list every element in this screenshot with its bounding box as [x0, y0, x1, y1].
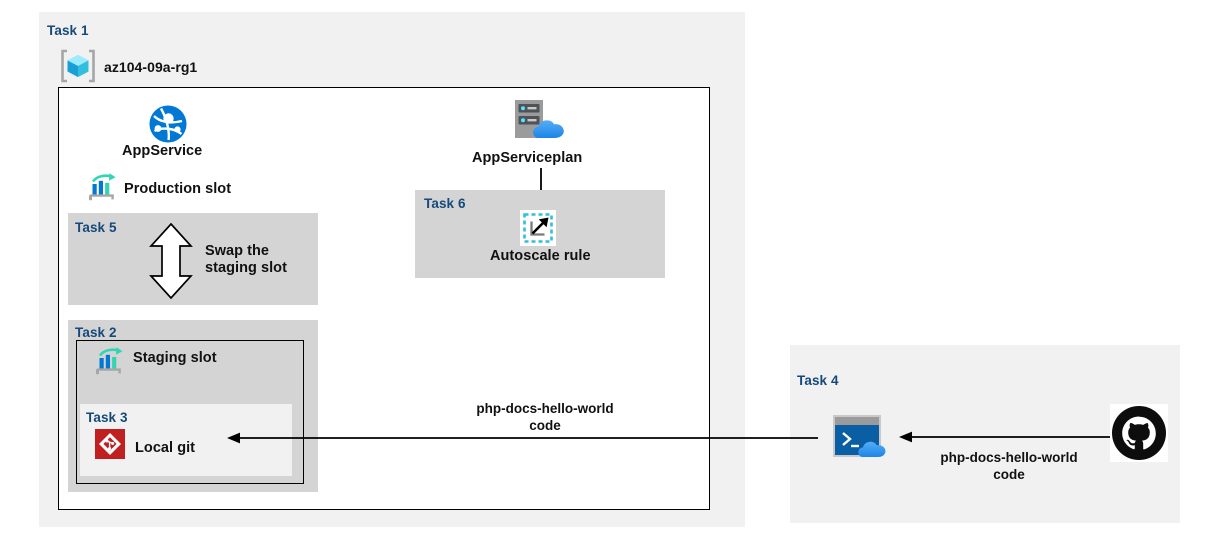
- edge-cloudshell-to-localgit-label: php-docs-hello-world code: [440, 401, 650, 435]
- task3-label: Task 3: [86, 411, 128, 425]
- appservice-label: AppService: [122, 143, 202, 160]
- github-icon: [1110, 404, 1168, 462]
- app-service-icon: [148, 104, 188, 144]
- deployment-slot-icon-staging: [95, 347, 127, 377]
- swap-arrow-icon: [147, 222, 195, 300]
- task4-label: Task 4: [797, 374, 839, 388]
- resource-group-icon: [60, 49, 96, 83]
- cloud-shell-icon: [832, 414, 898, 460]
- deployment-slot-icon-production: [88, 173, 120, 203]
- edge-github-label: php-docs-hello-world code: [905, 450, 1113, 484]
- task1-label: Task 1: [47, 24, 89, 38]
- edge-github-to-cloudshell: [898, 428, 1110, 446]
- app-service-plan-icon: [512, 98, 570, 144]
- diagram-canvas: Task 1 az104-09a-rg1 AppService: [0, 0, 1218, 545]
- autoscale-icon: [520, 210, 556, 246]
- appserviceplan-label: AppServiceplan: [472, 150, 582, 167]
- staging-slot-label: Staging slot: [133, 350, 217, 367]
- task2-label: Task 2: [75, 326, 117, 340]
- production-slot-label: Production slot: [124, 181, 231, 198]
- autoscale-rule-label: Autoscale rule: [490, 248, 591, 265]
- task6-label: Task 6: [424, 197, 466, 211]
- local-git-label: Local git: [135, 440, 195, 457]
- swap-label: Swap the staging slot: [205, 243, 287, 277]
- resource-group-label: az104-09a-rg1: [104, 59, 197, 76]
- git-icon: [95, 429, 125, 459]
- task5-label: Task 5: [75, 221, 117, 235]
